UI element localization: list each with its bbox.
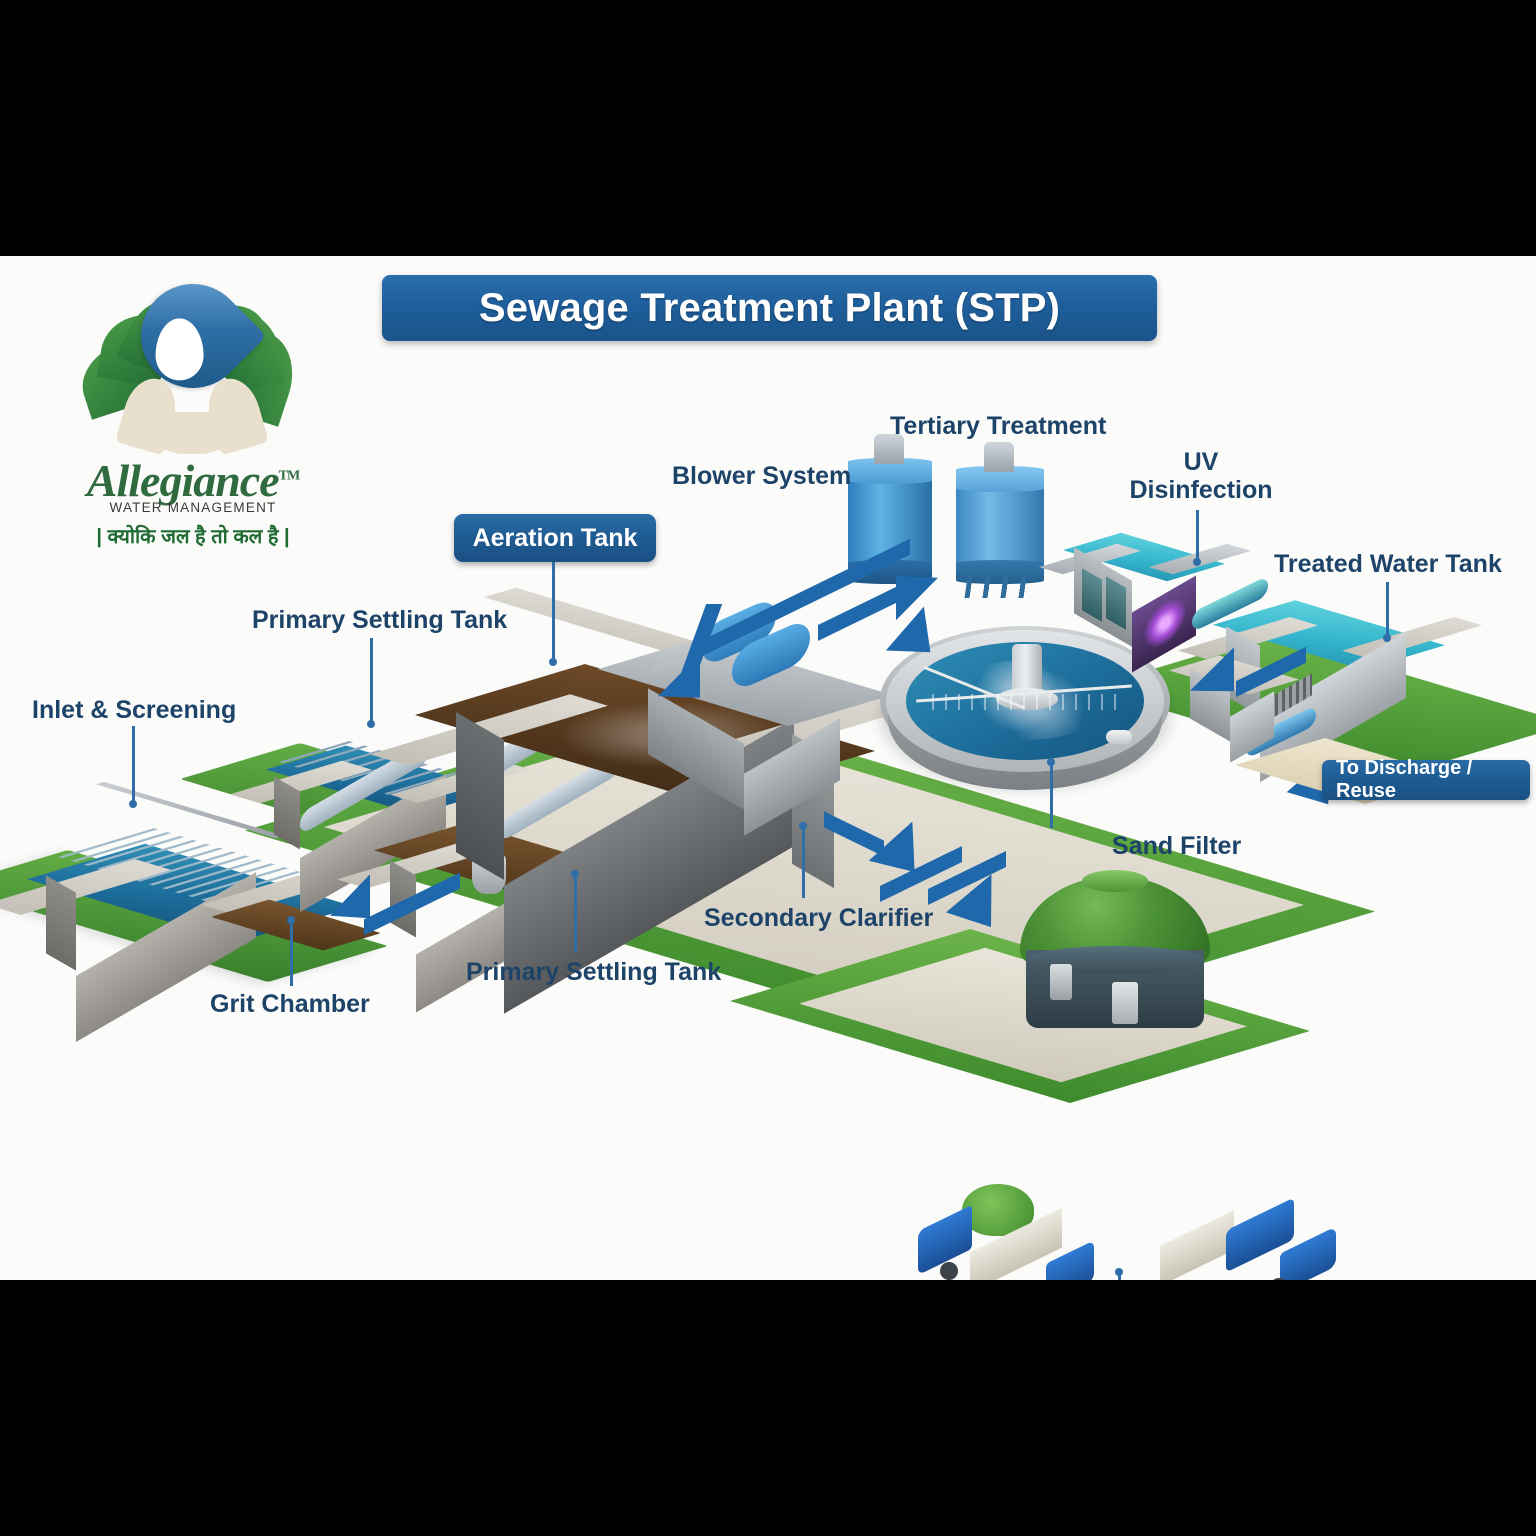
flow-arrow-clarifier-to-tertiary [1186,658,1306,718]
leader-line-primary-settling-1 [370,638,373,724]
label-secondary-clarifier: Secondary Clarifier [704,904,933,932]
sludge-truck-right [1160,1206,1340,1280]
company-logo: AllegianceTM WATER MANAGEMENT | क्योकि ज… [58,278,328,578]
badge-aeration-tank-text: Aeration Tank [473,524,638,553]
label-uv-disinfection: UV Disinfection [1118,448,1284,504]
letterbox-top [0,0,1536,256]
leader-line-grit-chamber [290,922,293,986]
page-title-text: Sewage Treatment Plant (STP) [479,286,1060,331]
badge-aeration-tank: Aeration Tank [454,514,656,562]
logo-tagline: | क्योकि जल है तो कल है | [58,522,328,549]
badge-to-discharge-reuse: To Discharge / Reuse [1322,760,1530,800]
logo-mark [78,278,308,463]
label-inlet-screening: Inlet & Screening [32,696,236,724]
flow-arrow-to-inlet [330,886,460,926]
label-treated-water-tank: Treated Water Tank [1274,550,1502,578]
leader-dot-secondary-clarifier [799,822,807,830]
clarifier-outlet-box [1106,730,1132,744]
tank-legs-icon [964,576,1035,598]
leader-line-treated-water-tank [1386,582,1389,638]
hand-palm [156,412,228,454]
sludge-truck-left [918,1206,1098,1280]
tertiary-tank-b [956,456,1044,606]
leader-line-secondary-clarifier [802,828,805,898]
logo-wordmark-text: Allegiance [87,455,279,506]
door-icon [1050,964,1072,1000]
leader-line-aeration-tank [552,562,555,662]
label-uv-line2: Disinfection [1129,476,1272,504]
water-drop-highlight [156,318,204,380]
leader-line-inlet-screening [132,726,135,804]
label-blower-system: Blower System [672,462,851,490]
label-primary-settling-tank-2: Primary Settling Tank [466,958,721,986]
leader-dot-inlet-screening [129,800,137,808]
uv-disinfection-unit [1072,518,1232,658]
label-primary-settling-tank-1: Primary Settling Tank [252,606,507,634]
label-sand-filter: Sand Filter [1112,832,1241,860]
leader-dot-sludge-treatment [1115,1268,1123,1276]
label-tertiary-treatment: Tertiary Treatment [890,412,1106,440]
wheel-icon [940,1262,958,1280]
door-icon [1112,982,1138,1024]
logo-subtitle: WATER MANAGEMENT [58,500,328,515]
tank-hatch-icon [984,442,1014,472]
leader-dot-primary-settling-1 [367,720,375,728]
badge-to-discharge-reuse-text: To Discharge / Reuse [1336,757,1516,803]
trademark-icon: TM [279,469,300,484]
infographic-canvas: Sewage Treatment Plant (STP) [0,256,1536,1280]
leader-line-sand-filter [1050,764,1053,828]
leader-dot-grit-chamber [287,916,295,924]
flow-arrow-return-activated-sludge [640,576,940,696]
screenshot-stage: Sewage Treatment Plant (STP) [0,0,1536,1536]
leader-dot-primary-settling-2 [571,870,579,878]
leader-line-uv-disinfection [1196,510,1199,562]
leader-dot-sand-filter [1047,758,1055,766]
leader-dot-uv-disinfection [1193,558,1201,566]
leader-line-primary-settling-2 [574,876,577,952]
label-grit-chamber: Grit Chamber [210,990,370,1018]
leader-dot-aeration-tank [549,658,557,666]
label-uv-line1: UV [1184,448,1219,476]
leader-dot-treated-water-tank [1383,634,1391,642]
page-title: Sewage Treatment Plant (STP) [382,275,1157,341]
letterbox-bottom [0,1280,1536,1536]
